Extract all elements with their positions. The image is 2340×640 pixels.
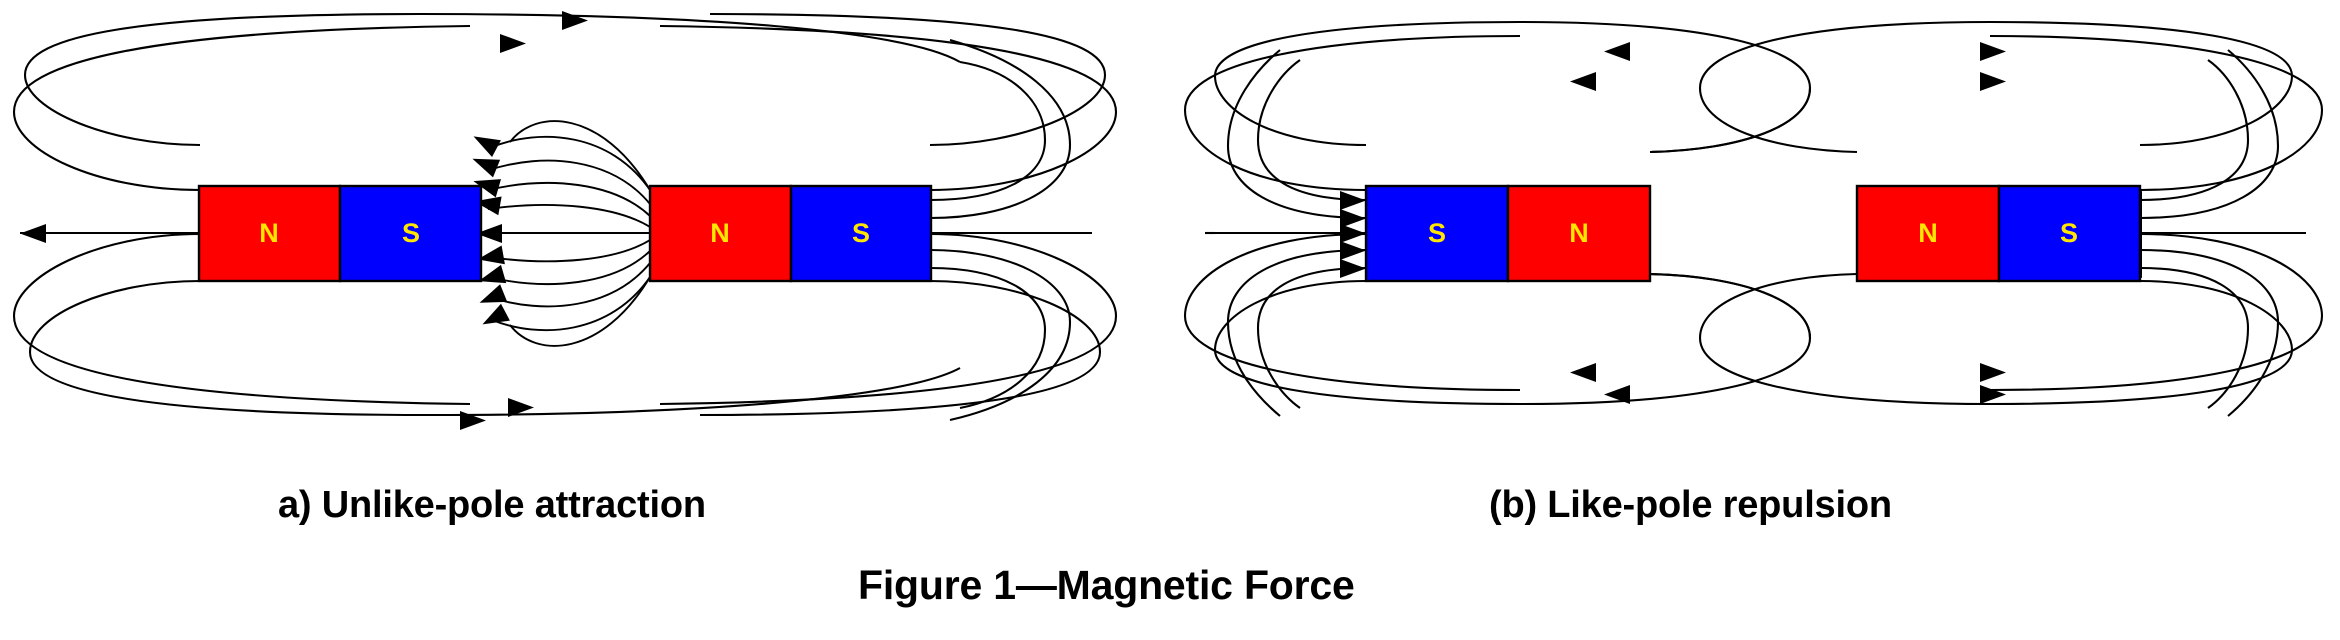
field-arrow: [1980, 72, 2006, 91]
field-arrow: [1570, 72, 1596, 91]
caption-panel-b: (b) Like-pole repulsion: [1489, 484, 1892, 527]
magnet-a-right-north-label: N: [710, 218, 730, 248]
magnet-b-left-north-label: N: [1569, 218, 1589, 248]
field-arrow: [562, 11, 588, 30]
magnet-a-left-south-label: S: [402, 218, 420, 248]
panel-a-gap-field-lines: [488, 121, 650, 346]
field-arrow: [1980, 385, 2006, 404]
magnet-a-right[interactable]: N S: [650, 186, 931, 281]
field-line-canvas: N S N S S N N S: [0, 0, 2340, 640]
field-arrow: [500, 34, 526, 53]
magnet-b-left-south-label: S: [1428, 218, 1446, 248]
figure-title: Figure 1—Magnetic Force: [858, 562, 1355, 609]
magnet-a-left[interactable]: N S: [199, 186, 481, 281]
magnet-b-right[interactable]: N S: [1857, 186, 2140, 281]
magnet-a-right-south-label: S: [852, 218, 870, 248]
field-arrow: [1604, 42, 1630, 61]
field-arrow: [1570, 363, 1596, 382]
field-arrow: [1980, 363, 2006, 382]
magnet-a-left-north-label: N: [259, 218, 279, 248]
panel-a-axis-line: [20, 224, 200, 243]
magnetic-force-figure: N S N S S N N S a) Unlike-pole attractio…: [0, 0, 2340, 640]
magnet-b-left[interactable]: S N: [1366, 186, 1650, 281]
magnet-b-right-south-label: S: [2060, 218, 2078, 248]
field-arrow: [1980, 42, 2006, 61]
magnet-b-right-north-label: N: [1918, 218, 1938, 248]
caption-panel-a: a) Unlike-pole attraction: [278, 484, 706, 527]
panel-a-outer-loops: [14, 11, 1116, 430]
